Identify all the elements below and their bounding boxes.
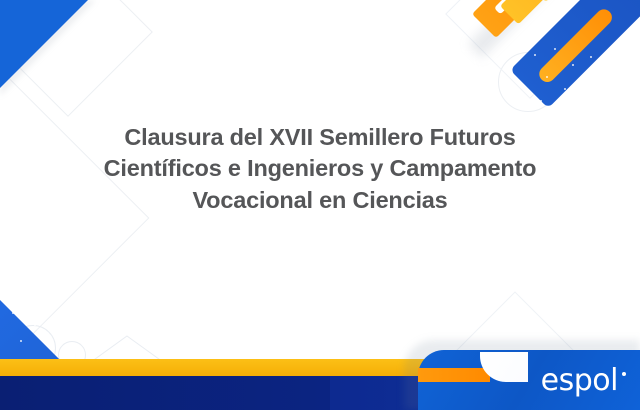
event-banner-card: espol Clausura del XVII Semillero Futuro… xyxy=(0,0,640,410)
bottom-navy-band-shade xyxy=(0,376,330,410)
top-left-blue-triangle xyxy=(0,0,88,88)
espol-wordmark: espol xyxy=(541,363,618,398)
logo-orange-strip xyxy=(418,368,490,382)
registered-mark-dot xyxy=(622,372,626,376)
espol-logo-banner: espol xyxy=(418,350,640,410)
event-title: Clausura del XVII Semillero Futuros Cien… xyxy=(88,122,552,216)
